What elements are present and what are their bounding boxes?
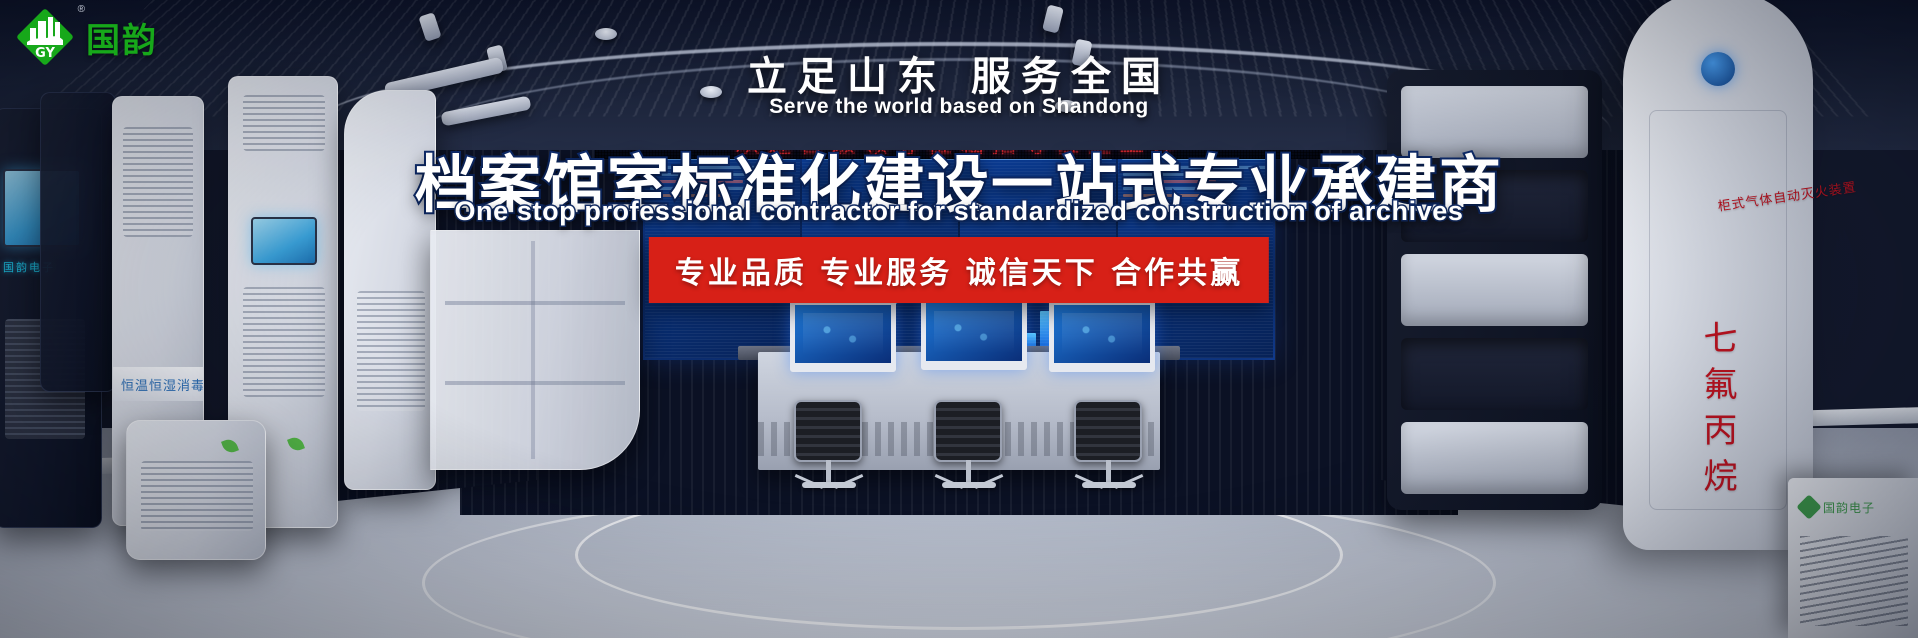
hero-banner: 欢迎各级领导莅临指导检查工作: [0, 0, 1918, 638]
brand-name: 国韵: [86, 13, 158, 62]
brand-logo[interactable]: GY ® 国韵: [14, 6, 158, 68]
slogan-text: 专业品质 专业服务 诚信天下 合作共赢: [675, 256, 1243, 291]
slogan-banner: 专业品质 专业服务 诚信天下 合作共赢: [649, 237, 1269, 303]
svg-text:GY: GY: [35, 46, 55, 61]
tagline-english: Serve the world based on Shandong: [0, 95, 1918, 119]
headline-english: One stop professional contractor for sta…: [0, 196, 1918, 227]
text-overlay: GY ® 国韵 立足山东 服务全国 Serve the world based …: [0, 0, 1918, 638]
gy-building-diamond-icon: GY ®: [14, 6, 76, 68]
tagline-chinese: 立足山东 服务全国: [0, 44, 1918, 102]
registered-mark: ®: [78, 4, 85, 15]
